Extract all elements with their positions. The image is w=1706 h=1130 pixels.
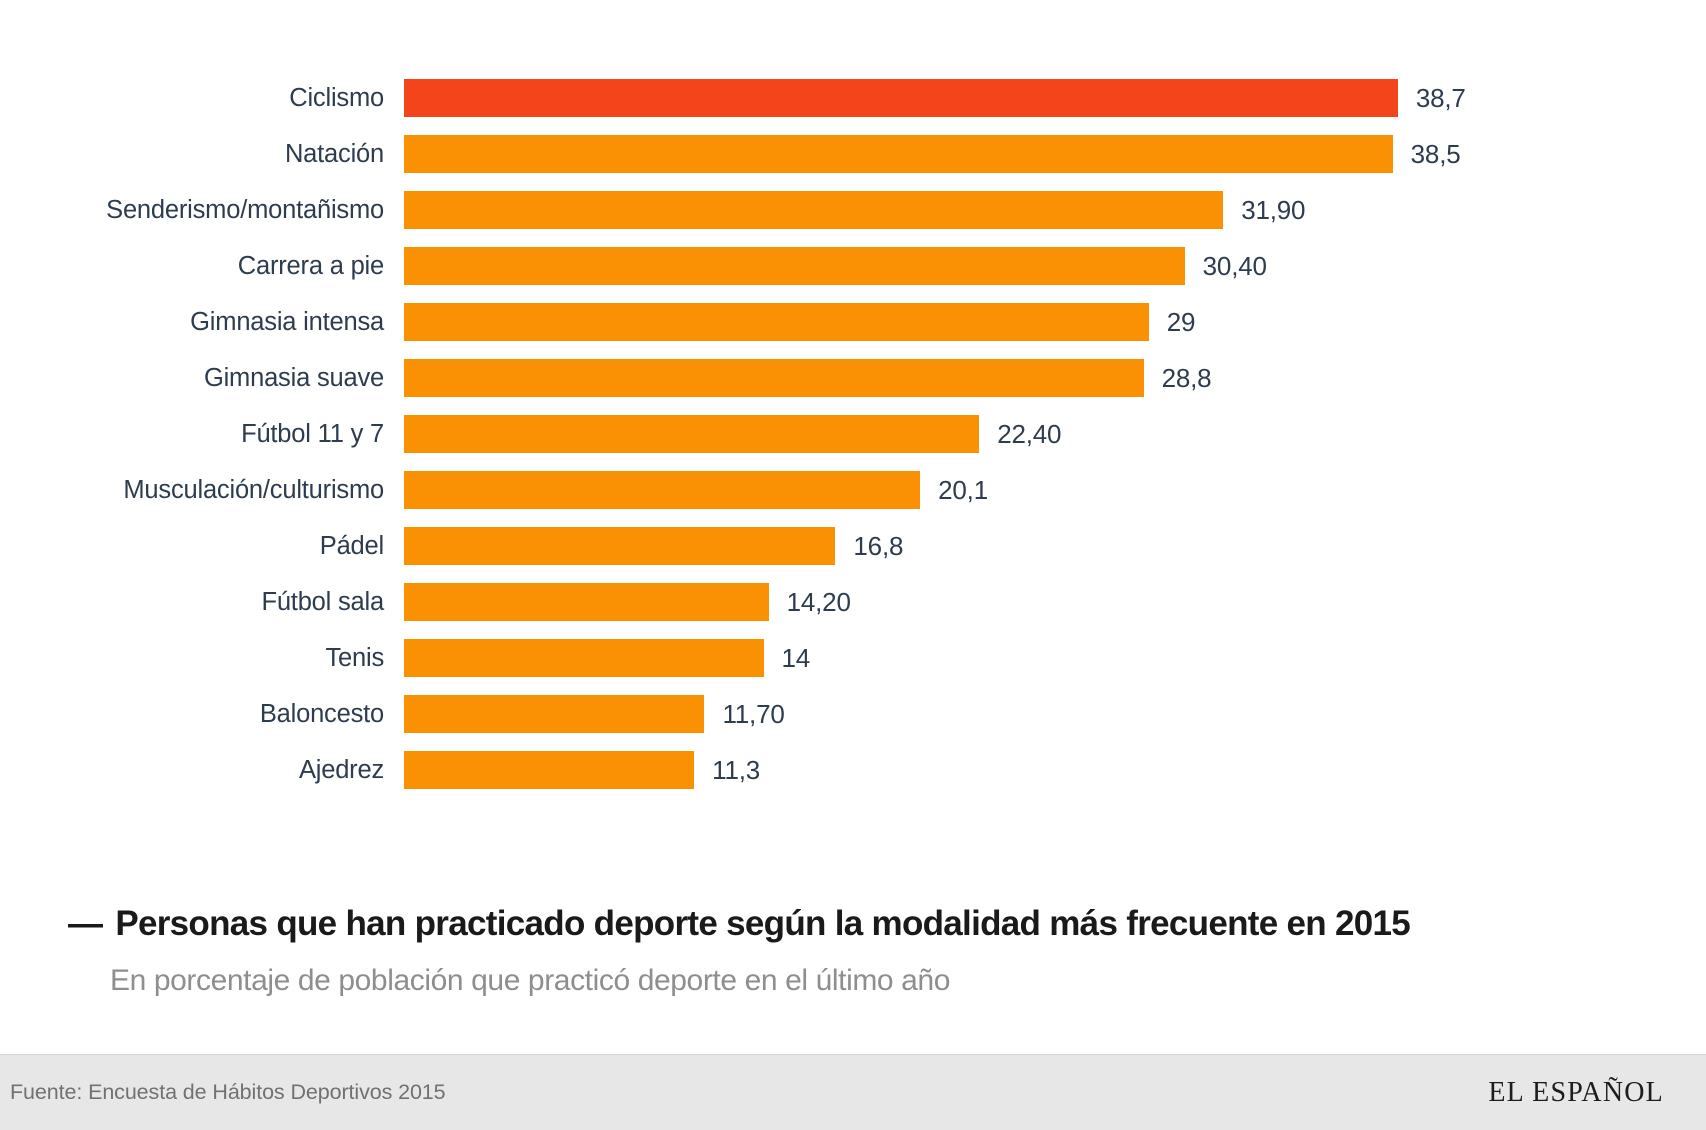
- bar-track: 16,8: [404, 518, 1706, 574]
- bar: [404, 79, 1398, 117]
- bar-row: Natación38,5: [0, 126, 1706, 182]
- bar-value-label: 28,8: [1162, 363, 1212, 394]
- bar-value-label: 38,7: [1416, 83, 1466, 114]
- bar-value-label: 29: [1167, 307, 1196, 338]
- bar-value-label: 38,5: [1411, 139, 1461, 170]
- bar-track: 28,8: [404, 350, 1706, 406]
- bar-category-label: Fútbol 11 y 7: [0, 420, 404, 449]
- bar-row: Fútbol 11 y 722,40: [0, 406, 1706, 462]
- bar-track: 30,40: [404, 238, 1706, 294]
- bar-category-label: Ciclismo: [0, 84, 404, 113]
- bar-category-label: Fútbol sala: [0, 588, 404, 617]
- chart-subhead: En porcentaje de población que practicó …: [110, 964, 1706, 997]
- bar-row: Ajedrez11,3: [0, 742, 1706, 798]
- bar-category-label: Baloncesto: [0, 700, 404, 729]
- bar: [404, 303, 1149, 341]
- bar-track: 31,90: [404, 182, 1706, 238]
- bar-category-label: Senderismo/montañismo: [0, 196, 404, 225]
- bar: [404, 135, 1393, 173]
- bar-value-label: 20,1: [938, 475, 988, 506]
- headline-dash: —: [68, 905, 102, 944]
- bar: [404, 247, 1185, 285]
- bar-track: 38,5: [404, 126, 1706, 182]
- bar-value-label: 31,90: [1241, 195, 1305, 226]
- bar-category-label: Carrera a pie: [0, 252, 404, 281]
- bar-value-label: 11,3: [712, 755, 760, 786]
- bar: [404, 415, 979, 453]
- bar-value-label: 14: [782, 643, 811, 674]
- bar-chart: Ciclismo38,7Natación38,5Senderismo/monta…: [0, 0, 1706, 860]
- bar-category-label: Gimnasia suave: [0, 364, 404, 393]
- bar: [404, 359, 1144, 397]
- bar: [404, 583, 769, 621]
- bar-row: Fútbol sala14,20: [0, 574, 1706, 630]
- bar: [404, 639, 764, 677]
- bar: [404, 191, 1223, 229]
- bar-category-label: Natación: [0, 140, 404, 169]
- bar-track: 11,3: [404, 742, 1706, 798]
- bar-row: Ciclismo38,7: [0, 70, 1706, 126]
- bar-value-label: 30,40: [1203, 251, 1267, 282]
- bar-category-label: Ajedrez: [0, 756, 404, 785]
- footer-bar: Fuente: Encuesta de Hábitos Deportivos 2…: [0, 1054, 1706, 1130]
- bar-value-label: 14,20: [787, 587, 851, 618]
- bar: [404, 527, 835, 565]
- bar-category-label: Tenis: [0, 644, 404, 673]
- bar-track: 11,70: [404, 686, 1706, 742]
- bar-track: 14,20: [404, 574, 1706, 630]
- bar-category-label: Musculación/culturismo: [0, 476, 404, 505]
- bar-value-label: 11,70: [722, 699, 784, 730]
- infographic-container: Ciclismo38,7Natación38,5Senderismo/monta…: [0, 0, 1706, 1130]
- caption-block: — Personas que han practicado deporte se…: [0, 905, 1706, 997]
- bar-row: Tenis14: [0, 630, 1706, 686]
- bar: [404, 471, 920, 509]
- bar-row: Baloncesto11,70: [0, 686, 1706, 742]
- bar-value-label: 16,8: [853, 531, 903, 562]
- bar-track: 22,40: [404, 406, 1706, 462]
- bar: [404, 695, 704, 733]
- bar-row: Pádel16,8: [0, 518, 1706, 574]
- bar-category-label: Gimnasia intensa: [0, 308, 404, 337]
- bar-row: Carrera a pie30,40: [0, 238, 1706, 294]
- bar-value-label: 22,40: [997, 419, 1061, 450]
- source-note: Fuente: Encuesta de Hábitos Deportivos 2…: [10, 1080, 446, 1105]
- bar: [404, 751, 694, 789]
- bar-track: 29: [404, 294, 1706, 350]
- bar-track: 14: [404, 630, 1706, 686]
- bar-track: 20,1: [404, 462, 1706, 518]
- chart-headline: — Personas que han practicado deporte se…: [68, 905, 1706, 944]
- bar-row: Gimnasia intensa29: [0, 294, 1706, 350]
- bar-category-label: Pádel: [0, 532, 404, 561]
- bar-row: Senderismo/montañismo31,90: [0, 182, 1706, 238]
- publisher-logo: EL ESPAÑOL: [1488, 1077, 1664, 1109]
- bar-row: Gimnasia suave28,8: [0, 350, 1706, 406]
- bar-track: 38,7: [404, 70, 1706, 126]
- bar-row: Musculación/culturismo20,1: [0, 462, 1706, 518]
- headline-text: Personas que han practicado deporte segú…: [115, 905, 1410, 944]
